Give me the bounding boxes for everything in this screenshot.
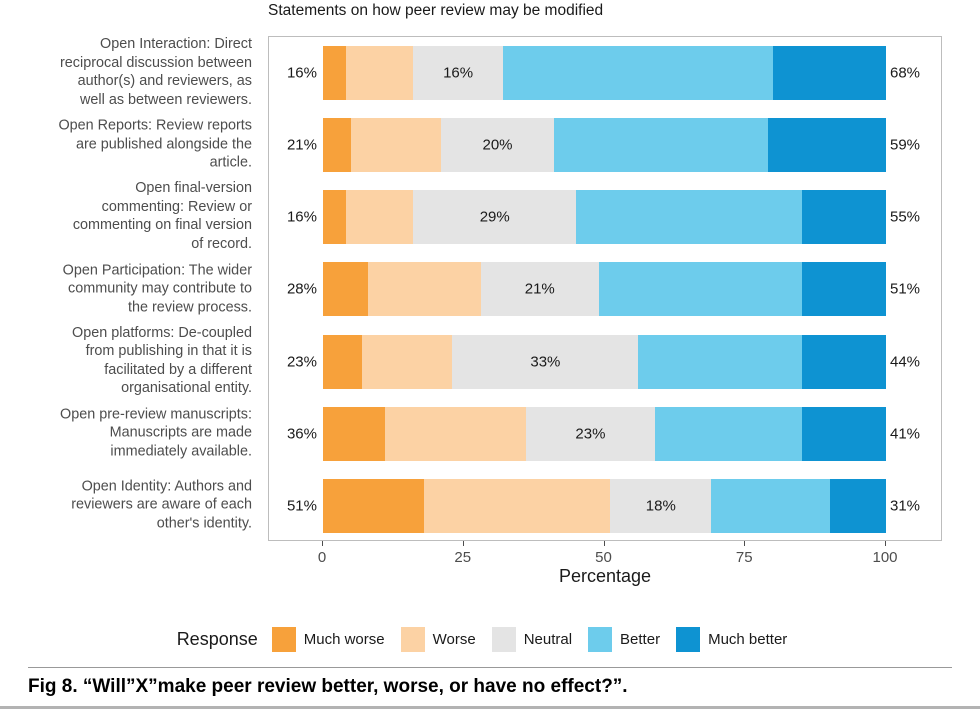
y-axis-label-line: from publishing in that it is — [8, 342, 252, 361]
x-axis-tick-label: 50 — [595, 549, 612, 566]
stacked-bar — [323, 190, 886, 244]
x-axis-tick-mark — [463, 541, 464, 546]
bar-segment-better — [655, 407, 801, 461]
y-axis-label-line: facilitated by a different — [8, 361, 252, 380]
legend-label: Worse — [433, 631, 476, 648]
negative-total-label: 36% — [269, 425, 317, 442]
positive-total-label: 55% — [890, 209, 940, 226]
y-axis-label-line: immediately available. — [8, 442, 252, 461]
x-axis-tick-label: 25 — [454, 549, 471, 566]
bar-segment-much-better — [802, 335, 886, 389]
bar-segment-much-worse — [323, 190, 346, 244]
x-axis-tick-label: 0 — [318, 549, 326, 566]
bar-segment-worse — [362, 335, 452, 389]
bar-row: 21%20%59% — [269, 109, 941, 181]
legend-label: Better — [620, 631, 660, 648]
figure-caption: Fig 8. “Will”X”make peer review better, … — [28, 676, 958, 698]
y-axis-label-line: Open final-version — [8, 179, 252, 198]
bar-segment-worse — [385, 407, 526, 461]
legend-swatch-icon — [676, 627, 700, 652]
legend-label: Much better — [708, 631, 787, 648]
y-axis-label-line: Open Participation: The wider — [8, 261, 252, 280]
bar-segment-neutral — [481, 262, 599, 316]
figure-container: Statements on how peer review may be mod… — [0, 0, 980, 713]
y-axis-label-line: commenting on final version — [8, 216, 252, 235]
bar-segment-much-better — [773, 46, 886, 100]
x-axis-tick-mark — [322, 541, 323, 546]
positive-total-label: 68% — [890, 65, 940, 82]
y-axis-label-line: organisational entity. — [8, 379, 252, 398]
y-axis-label-line: article. — [8, 153, 252, 172]
y-axis-label-line: other's identity. — [8, 514, 252, 533]
y-axis-label-line: Open platforms: De-coupled — [8, 324, 252, 343]
footer-divider — [0, 706, 980, 709]
y-axis-label-line: Open Interaction: Direct — [8, 35, 252, 54]
bar-row: 51%18%31% — [269, 470, 941, 542]
negative-total-label: 23% — [269, 353, 317, 370]
stacked-bar — [323, 46, 886, 100]
bar-segment-much-better — [802, 262, 886, 316]
bar-segment-better — [503, 46, 773, 100]
y-axis-label-line: Open Reports: Review reports — [8, 116, 252, 135]
bar-segment-better — [599, 262, 802, 316]
legend-item-much-worse[interactable]: Much worse — [272, 627, 385, 652]
caption-divider — [28, 667, 952, 668]
legend-swatch-icon — [401, 627, 425, 652]
legend: Response Much worseWorseNeutralBetterMuc… — [0, 627, 980, 652]
y-axis-label-line: well as between reviewers. — [8, 91, 252, 110]
bar-segment-better — [638, 335, 801, 389]
y-axis-label: Open Reports: Review reportsare publishe… — [8, 116, 252, 172]
positive-total-label: 59% — [890, 137, 940, 154]
y-axis-label-line: of record. — [8, 235, 252, 254]
bar-segment-neutral — [526, 407, 655, 461]
bar-row: 28%21%51% — [269, 253, 941, 325]
positive-total-label: 31% — [890, 497, 940, 514]
y-axis-label-line: the review process. — [8, 298, 252, 317]
y-axis-category-labels: Open Interaction: Directreciprocal discu… — [10, 36, 260, 541]
y-axis-label: Open pre-review manuscripts:Manuscripts … — [8, 405, 252, 461]
y-axis-label-line: Open Identity: Authors and — [8, 477, 252, 496]
x-axis-tick-label: 75 — [736, 549, 753, 566]
y-axis-label-line: Open pre-review manuscripts: — [8, 405, 252, 424]
bar-segment-worse — [424, 479, 610, 533]
bar-segment-neutral — [610, 479, 711, 533]
stacked-bar — [323, 118, 886, 172]
y-axis-label: Open Identity: Authors andreviewers are … — [8, 477, 252, 533]
bar-segment-much-better — [830, 479, 886, 533]
negative-total-label: 16% — [269, 209, 317, 226]
y-axis-label: Open final-versioncommenting: Review orc… — [8, 179, 252, 253]
bar-segment-much-worse — [323, 335, 362, 389]
bar-segment-neutral — [413, 46, 503, 100]
stacked-bar — [323, 407, 886, 461]
legend-label: Neutral — [524, 631, 572, 648]
bar-segment-much-better — [768, 118, 886, 172]
x-axis-tick-mark — [885, 541, 886, 546]
bar-segment-better — [576, 190, 801, 244]
plot-panel: 16%16%68%21%20%59%16%29%55%28%21%51%23%3… — [268, 36, 942, 541]
negative-total-label: 51% — [269, 497, 317, 514]
x-axis-title: Percentage — [268, 566, 942, 587]
positive-total-label: 41% — [890, 425, 940, 442]
positive-total-label: 44% — [890, 353, 940, 370]
legend-item-neutral[interactable]: Neutral — [492, 627, 572, 652]
x-axis-tick-mark — [744, 541, 745, 546]
legend-swatch-icon — [272, 627, 296, 652]
x-axis-tick-mark — [604, 541, 605, 546]
positive-total-label: 51% — [890, 281, 940, 298]
y-axis-label-line: author(s) and reviewers, as — [8, 72, 252, 91]
y-axis-label: Open Interaction: Directreciprocal discu… — [8, 35, 252, 109]
negative-total-label: 16% — [269, 65, 317, 82]
bar-segment-better — [554, 118, 768, 172]
bar-segment-much-worse — [323, 479, 424, 533]
x-axis-tick-label: 100 — [872, 549, 897, 566]
legend-item-worse[interactable]: Worse — [401, 627, 476, 652]
bar-segment-worse — [346, 46, 414, 100]
bar-segment-neutral — [441, 118, 554, 172]
stacked-bar — [323, 335, 886, 389]
bar-row: 36%23%41% — [269, 398, 941, 470]
negative-total-label: 21% — [269, 137, 317, 154]
bar-segment-neutral — [413, 190, 576, 244]
bar-segment-much-worse — [323, 118, 351, 172]
bar-segment-better — [711, 479, 829, 533]
legend-item-better[interactable]: Better — [588, 627, 660, 652]
bar-segment-worse — [368, 262, 481, 316]
y-axis-label-line: reviewers are aware of each — [8, 496, 252, 515]
chart-title: Statements on how peer review may be mod… — [268, 2, 603, 20]
legend-label: Much worse — [304, 631, 385, 648]
y-axis-label: Open Participation: The widercommunity m… — [8, 261, 252, 317]
y-axis-label-line: community may contribute to — [8, 279, 252, 298]
bar-row: 16%29%55% — [269, 181, 941, 253]
bar-segment-much-worse — [323, 262, 368, 316]
bar-segment-much-better — [802, 190, 886, 244]
stacked-bar — [323, 479, 886, 533]
legend-swatch-icon — [588, 627, 612, 652]
y-axis-label-line: Manuscripts are made — [8, 424, 252, 443]
bar-row: 16%16%68% — [269, 37, 941, 109]
bar-segment-much-better — [802, 407, 886, 461]
legend-title: Response — [177, 629, 258, 650]
legend-swatch-icon — [492, 627, 516, 652]
y-axis-label-line: are published alongside the — [8, 135, 252, 154]
y-axis-label: Open platforms: De-coupledfrom publishin… — [8, 324, 252, 398]
bar-segment-much-worse — [323, 46, 346, 100]
y-axis-label-line: commenting: Review or — [8, 198, 252, 217]
legend-item-much-better[interactable]: Much better — [676, 627, 787, 652]
legend-items: Much worseWorseNeutralBetterMuch better — [272, 627, 804, 652]
bar-row: 23%33%44% — [269, 326, 941, 398]
stacked-bar — [323, 262, 886, 316]
y-axis-label-line: reciprocal discussion between — [8, 54, 252, 73]
bar-segment-worse — [346, 190, 414, 244]
bar-segment-worse — [351, 118, 441, 172]
negative-total-label: 28% — [269, 281, 317, 298]
bar-segment-much-worse — [323, 407, 385, 461]
bar-segment-neutral — [452, 335, 638, 389]
